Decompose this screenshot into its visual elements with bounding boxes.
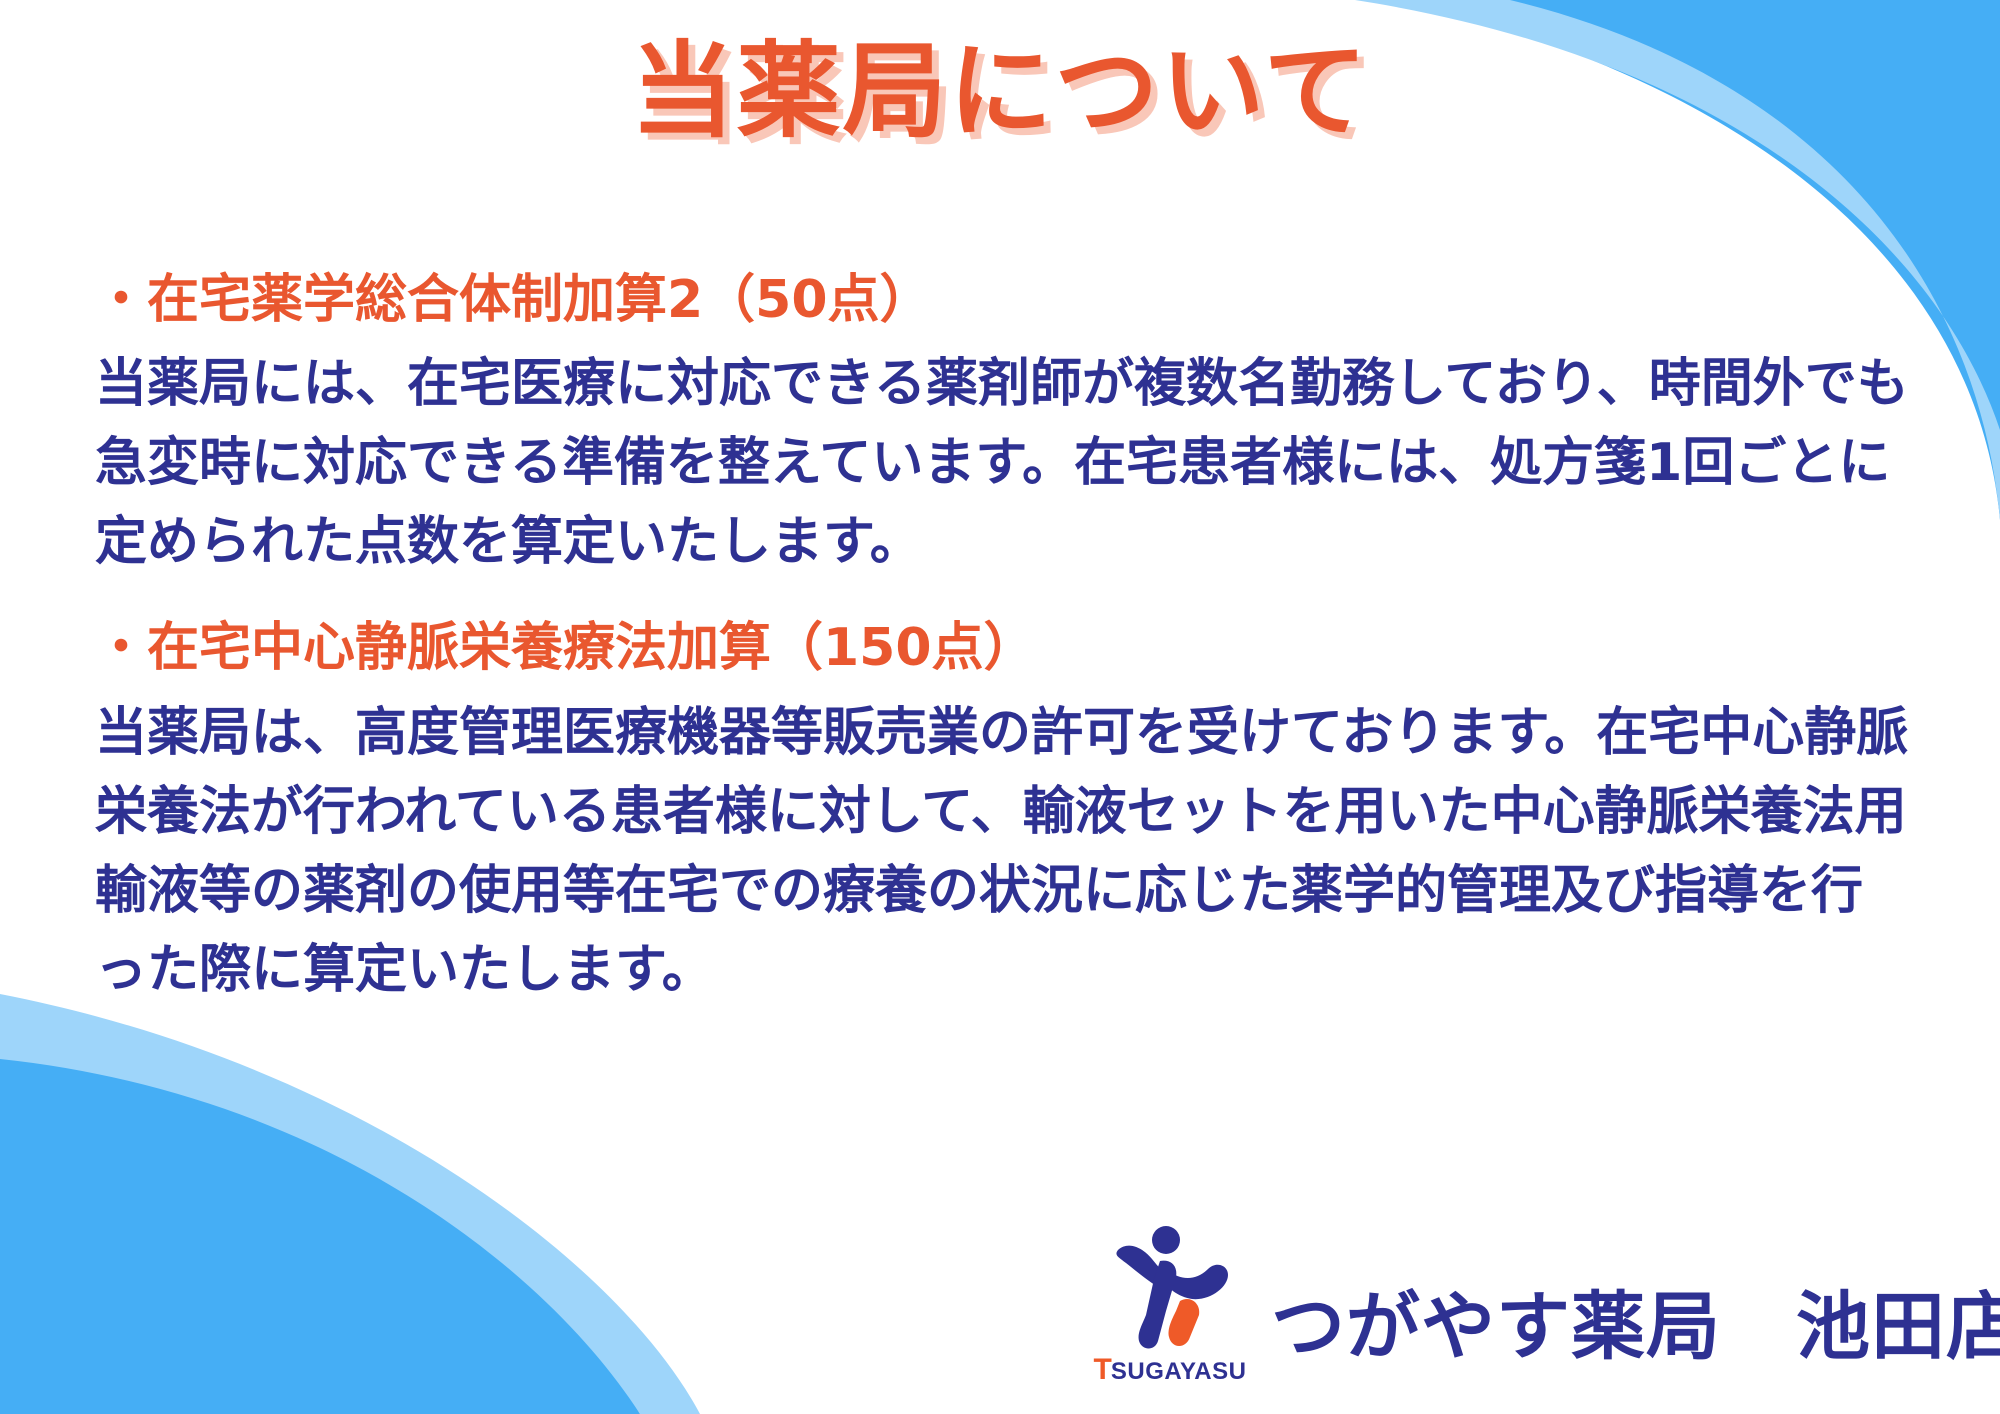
section-heading-2: ・在宅中心静脈栄養療法加算（150点） <box>95 618 1925 679</box>
content-body: ・在宅薬学総合体制加算2（50点） 当薬局には、在宅医療に対応できる薬剤師が複数… <box>95 270 1925 1028</box>
paragraph-line: った際に算定いたします。 <box>95 931 1925 1010</box>
section-paragraph-2: 当薬局は、高度管理医療機器等販売業の許可を受けております。在宅中心静脈 栄養法が… <box>95 694 1925 1010</box>
page-title-container: 当薬局について <box>0 32 2000 152</box>
logo-letter-t: T <box>1094 1355 1111 1385</box>
paragraph-line: 当薬局は、高度管理医療機器等販売業の許可を受けております。在宅中心静脈 <box>95 694 1925 773</box>
logo-wordmark: T SUGAYASU <box>1094 1355 1247 1385</box>
footer-branding: T SUGAYASU つがやす薬局 池田店 <box>1095 1225 2000 1390</box>
tsugayasu-logo: T SUGAYASU <box>1095 1225 1245 1390</box>
decorative-curve-bottom-left <box>0 984 760 1414</box>
paragraph-line: 当薬局には、在宅医療に対応できる薬剤師が複数名勤務しており、時間外でも <box>95 345 1925 424</box>
page-title: 当薬局について <box>631 32 1370 152</box>
paragraph-line: 急変時に対応できる準備を整えています。在宅患者様には、処方箋1回ごとに <box>95 424 1925 503</box>
section-spacer <box>95 600 1925 618</box>
company-name: つがやす薬局 池田店 <box>1271 1290 2000 1390</box>
section-heading-1: ・在宅薬学総合体制加算2（50点） <box>95 270 1925 331</box>
section-paragraph-1: 当薬局には、在宅医療に対応できる薬剤師が複数名勤務しており、時間外でも 急変時に… <box>95 345 1925 582</box>
logo-word-sugayasu: SUGAYASU <box>1111 1360 1247 1384</box>
paragraph-line: 栄養法が行われている患者様に対して、輸液セットを用いた中心静脈栄養法用 <box>95 773 1925 852</box>
paragraph-line: 定められた点数を算定いたします。 <box>95 503 1925 582</box>
slide-root: 当薬局について ・在宅薬学総合体制加算2（50点） 当薬局には、在宅医療に対応で… <box>0 0 2000 1414</box>
paragraph-line: 輸液等の薬剤の使用等在宅での療養の状況に応じた薬学的管理及び指導を行 <box>95 852 1925 931</box>
running-person-icon <box>1104 1225 1236 1353</box>
